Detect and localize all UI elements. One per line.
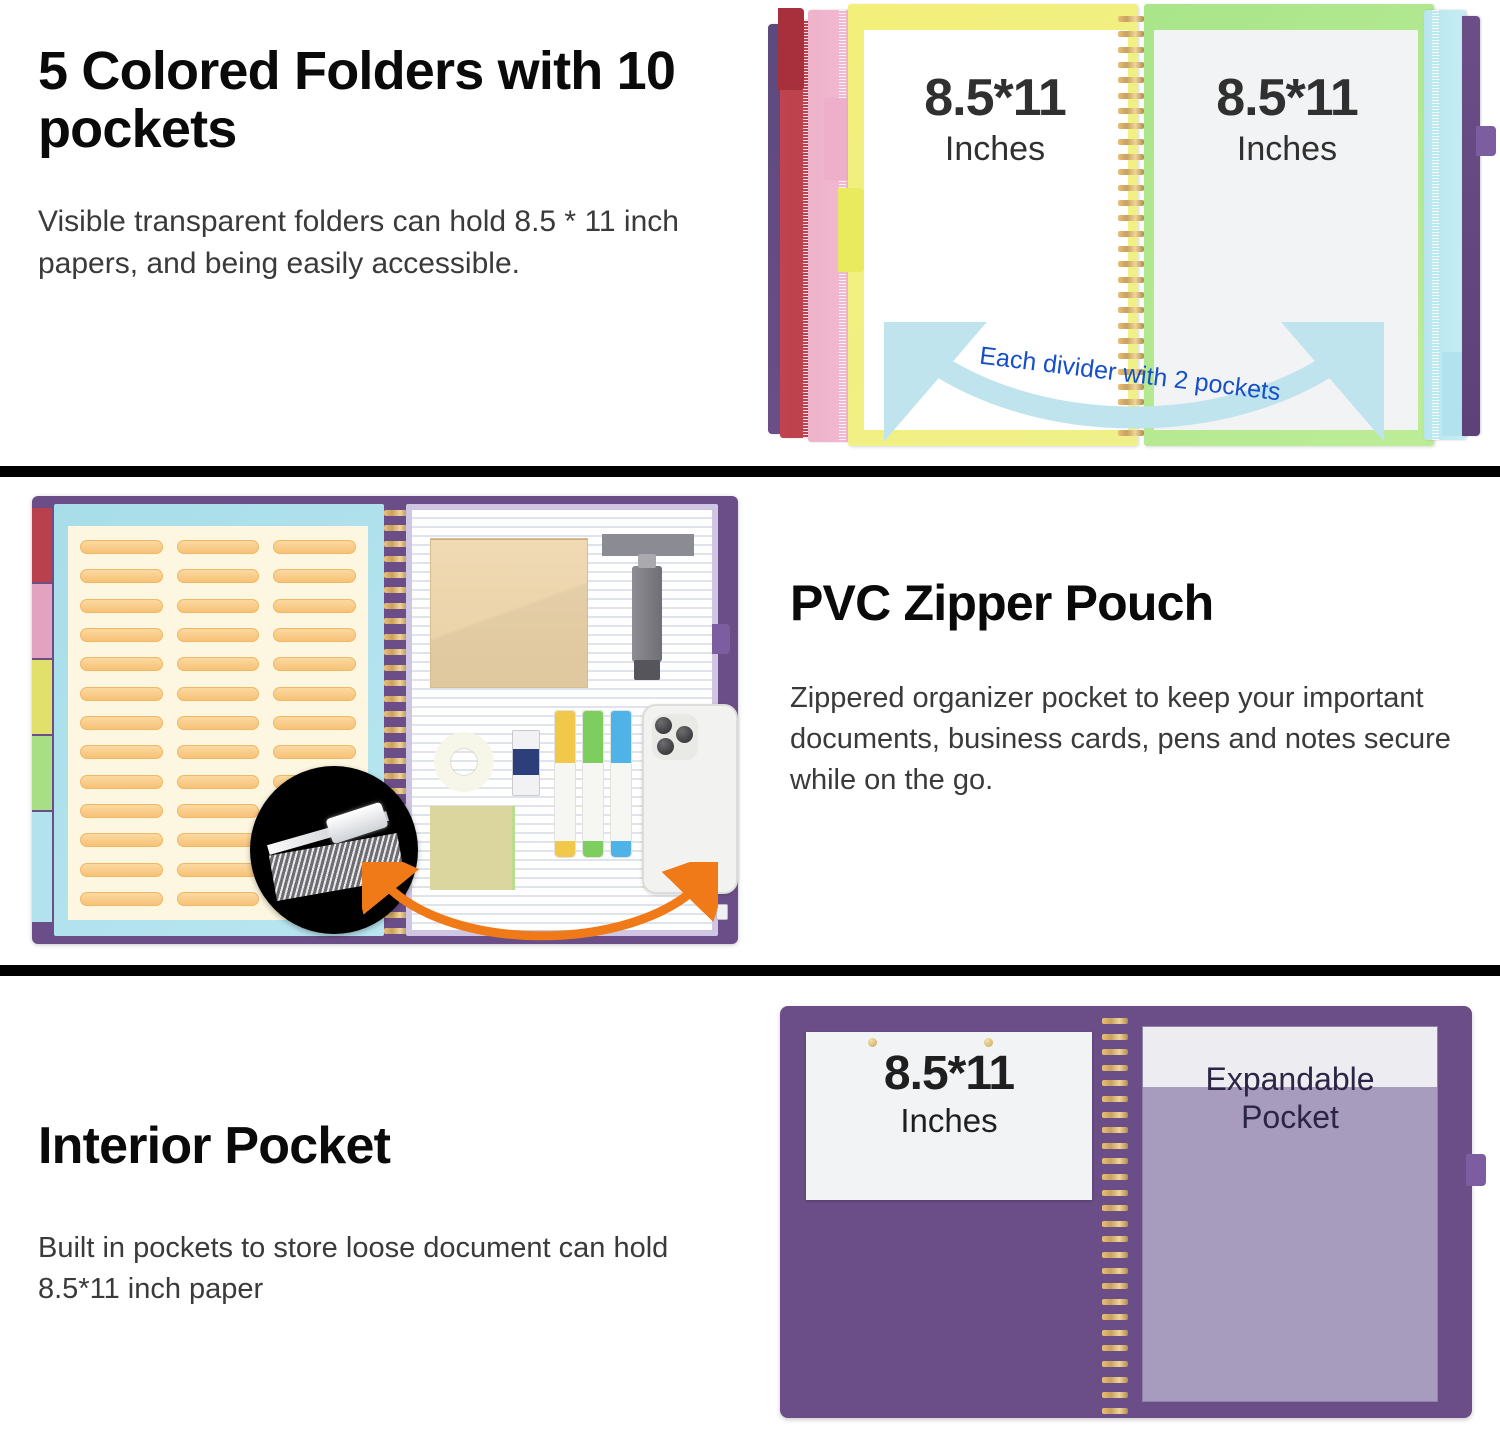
marker-green-item xyxy=(582,710,604,858)
binder-front-cover xyxy=(1462,16,1480,436)
envelope-flap xyxy=(431,539,587,687)
expandable-pocket-label-line2: Pocket xyxy=(1143,1099,1437,1137)
panel-1-body: Visible transparent folders can hold 8.5… xyxy=(38,201,698,286)
pen-loop xyxy=(712,624,730,654)
camera-module xyxy=(652,714,698,760)
panel-2-text-block: PVC Zipper Pouch Zippered organizer pock… xyxy=(790,576,1480,802)
expandable-pocket-label: Expandable Pocket xyxy=(1143,1061,1437,1137)
size-label-right-value: 8.5*11 xyxy=(1162,72,1412,124)
zipper-pouch-product-image xyxy=(18,486,748,956)
divider-tab-red xyxy=(32,508,52,582)
panel-2-body: Zippered organizer pocket to keep your i… xyxy=(790,678,1480,802)
pen-loop xyxy=(1466,1154,1486,1186)
divider-tab-pink xyxy=(824,98,850,180)
zipper-callout-arrow-icon xyxy=(362,862,718,958)
divider-tab-yellow xyxy=(32,660,52,734)
size-label-left-unit: Inches xyxy=(870,130,1120,169)
panel-2-headline: PVC Zipper Pouch xyxy=(790,576,1480,630)
panel-colored-folders: 5 Colored Folders with 10 pockets Visibl… xyxy=(0,0,1500,465)
panel-interior-pocket: Interior Pocket Built in pockets to stor… xyxy=(0,978,1500,1445)
size-label-left-value: 8.5*11 xyxy=(870,72,1120,124)
envelope-item xyxy=(430,538,588,688)
rivet-icon xyxy=(984,1038,993,1047)
panel-3-body: Built in pockets to store loose document… xyxy=(38,1228,748,1310)
marker-yellow-item xyxy=(554,710,576,858)
panel-pvc-zipper-pouch: PVC Zipper Pouch Zippered organizer pock… xyxy=(0,478,1500,968)
size-label-unit: Inches xyxy=(806,1102,1092,1140)
folders-product-image: 8.5*11 Inches 8.5*11 Inches Each divi xyxy=(762,2,1492,454)
rivet-icon xyxy=(868,1038,877,1047)
panel-3-text-block: Interior Pocket Built in pockets to stor… xyxy=(38,1118,748,1311)
notebook-body xyxy=(32,496,738,944)
size-label: 8.5*11 Inches xyxy=(806,1050,1092,1140)
divider-tab-yellow xyxy=(838,188,864,272)
sticker-column xyxy=(80,540,163,906)
sheet-edge-texture xyxy=(1432,10,1439,440)
size-label-left: 8.5*11 Inches xyxy=(870,72,1120,169)
product-infographic: 5 Colored Folders with 10 pockets Visibl… xyxy=(0,0,1500,1445)
divider-tab-green xyxy=(32,736,52,810)
usb-drive-item xyxy=(632,566,662,662)
spiral-binding xyxy=(1102,1018,1128,1414)
panel-divider-rule xyxy=(0,965,1500,976)
eraser-item xyxy=(512,730,540,796)
sticker-column xyxy=(177,540,260,906)
size-label-value: 8.5*11 xyxy=(806,1050,1092,1098)
panel-1-text-block: 5 Colored Folders with 10 pockets Visibl… xyxy=(38,42,698,286)
interior-pocket-product-image: 8.5*11 Inches Expandable Pocket xyxy=(770,1002,1482,1422)
panel-1-headline: 5 Colored Folders with 10 pockets xyxy=(38,42,698,159)
notebook-cover: 8.5*11 Inches Expandable Pocket xyxy=(780,1006,1472,1418)
tape-roll-item xyxy=(434,732,494,792)
size-label-right: 8.5*11 Inches xyxy=(1162,72,1412,169)
expandable-pocket: Expandable Pocket xyxy=(1142,1026,1438,1402)
panel-divider-rule xyxy=(0,466,1500,477)
size-label-right-unit: Inches xyxy=(1162,130,1412,169)
panel-3-headline: Interior Pocket xyxy=(38,1118,748,1174)
expandable-pocket-label-line1: Expandable xyxy=(1143,1061,1437,1099)
divider-tab-pink xyxy=(32,584,52,658)
divider-tab-blue xyxy=(32,812,52,922)
business-card-item xyxy=(602,534,694,556)
divider-tab-red xyxy=(778,8,804,90)
pen-loop xyxy=(1476,126,1496,156)
marker-blue-item xyxy=(610,710,632,858)
